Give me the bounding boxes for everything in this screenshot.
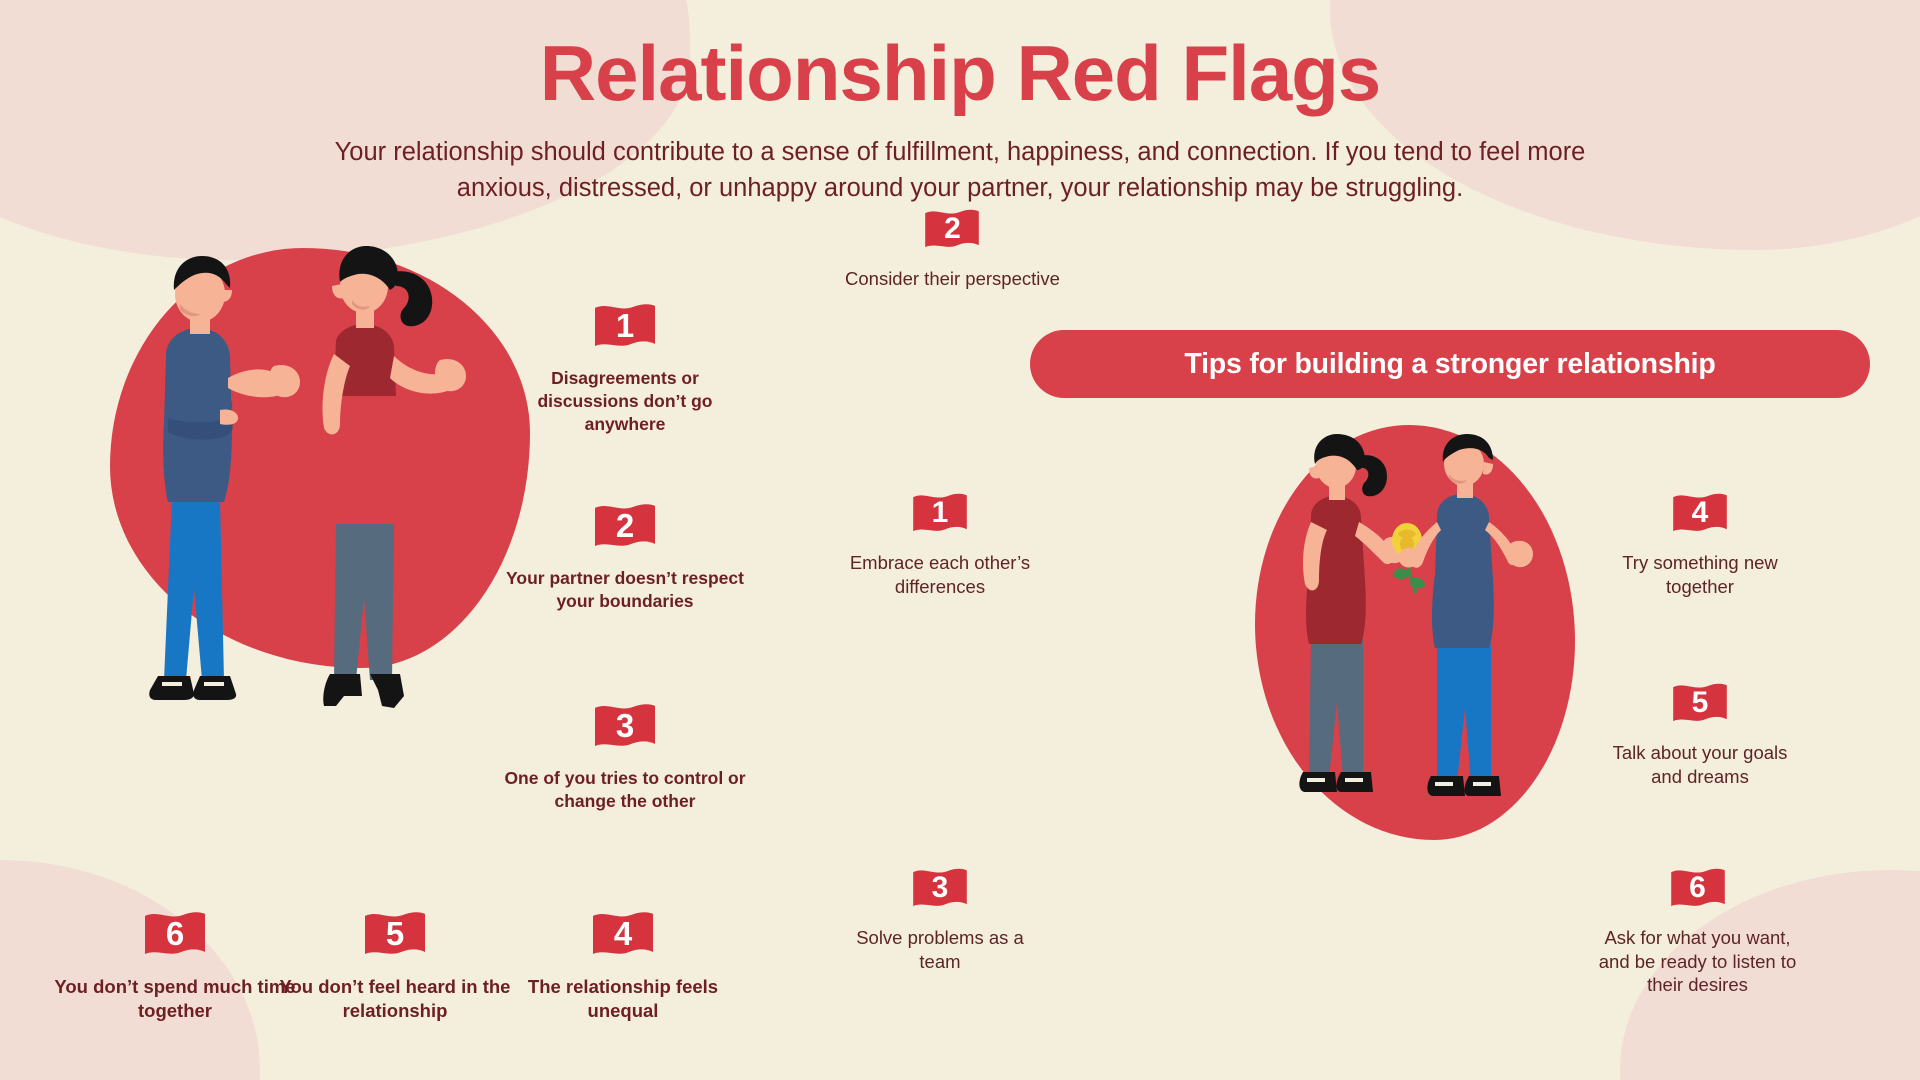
red-flag-caption: Disagreements or discussions don’t go an… [500,367,750,435]
flag-number: 4 [1671,493,1729,533]
flag-number: 3 [593,704,657,748]
flag-wrap: 5 [1600,680,1800,730]
red-flag-icon: 6 [143,908,207,964]
tip-caption: Ask for what you want, and be ready to l… [1590,926,1805,997]
tip-caption: Talk about your goals and dreams [1600,741,1800,788]
tip-item-6: 6 Ask for what you want, and be ready to… [1590,865,1805,997]
red-flag-caption: The relationship feels unequal [498,975,748,1023]
red-flag-item-1: 1 Disagreements or discussions don’t go … [500,300,750,435]
header: Relationship Red Flags Your relationship… [0,0,1920,206]
flag-number: 1 [593,304,657,348]
red-flag-item-2: 2 Your partner doesn’t respect your boun… [500,500,750,613]
tip-item-3: 3 Solve problems as a team [845,865,1035,973]
flag-wrap: 4 [498,908,748,964]
infographic-canvas: Relationship Red Flags Your relationship… [0,0,1920,1080]
red-flag-item-4: 4 The relationship feels unequal [498,908,748,1023]
tip-item-5: 5 Talk about your goals and dreams [1600,680,1800,788]
red-flag-item-6: 6 You don’t spend much time together [50,908,300,1023]
flag-wrap: 4 [1600,490,1800,540]
page-subtitle: Your relationship should contribute to a… [325,134,1595,206]
flag-number: 6 [1669,868,1727,908]
flag-number: 4 [591,912,655,956]
flag-wrap: 6 [50,908,300,964]
flag-wrap: 2 [845,206,1060,256]
arguing-couple-illustration [108,228,538,748]
flag-number: 3 [911,868,969,908]
tip-caption: Solve problems as a team [845,926,1035,973]
red-flag-caption: You don’t spend much time together [50,975,300,1023]
tip-caption: Embrace each other’s differences [845,551,1035,598]
red-flag-caption: You don’t feel heard in the relationship [266,975,524,1023]
flag-number: 6 [143,912,207,956]
red-flag-icon: 5 [1671,680,1729,730]
flag-wrap: 1 [500,300,750,356]
red-flag-icon: 2 [923,206,981,256]
flag-number: 2 [923,209,981,249]
tips-banner: Tips for building a stronger relationshi… [1030,330,1870,398]
red-flag-caption: One of you tries to control or change th… [500,767,750,813]
red-flag-icon: 3 [593,700,657,756]
flag-wrap: 5 [266,908,524,964]
tip-item-1: 1 Embrace each other’s differences [845,490,1035,598]
red-flag-caption: Your partner doesn’t respect your bounda… [500,567,750,613]
red-flag-icon: 1 [593,300,657,356]
flag-number: 1 [911,493,969,533]
flag-number: 2 [593,504,657,548]
tips-banner-label: Tips for building a stronger relationshi… [1184,348,1715,381]
flag-wrap: 1 [845,490,1035,540]
flag-number: 5 [363,912,427,956]
page-title: Relationship Red Flags [0,34,1920,112]
flag-wrap: 3 [845,865,1035,915]
flag-number: 5 [1671,683,1729,723]
tip-item-2: 2 Consider their perspective [845,206,1060,291]
flag-wrap: 6 [1590,865,1805,915]
red-flag-item-3: 3 One of you tries to control or change … [500,700,750,813]
red-flag-item-5: 5 You don’t feel heard in the relationsh… [266,908,524,1023]
tip-item-4: 4 Try something new together [1600,490,1800,598]
red-flag-icon: 1 [911,490,969,540]
red-flag-icon: 4 [1671,490,1729,540]
red-flag-icon: 6 [1669,865,1727,915]
red-flag-icon: 4 [591,908,655,964]
couple-with-rose-illustration [1255,430,1585,850]
red-flag-icon: 3 [911,865,969,915]
flag-wrap: 3 [500,700,750,756]
red-flag-icon: 2 [593,500,657,556]
tip-caption: Consider their perspective [845,267,1060,291]
tip-caption: Try something new together [1600,551,1800,598]
flag-wrap: 2 [500,500,750,556]
red-flag-icon: 5 [363,908,427,964]
